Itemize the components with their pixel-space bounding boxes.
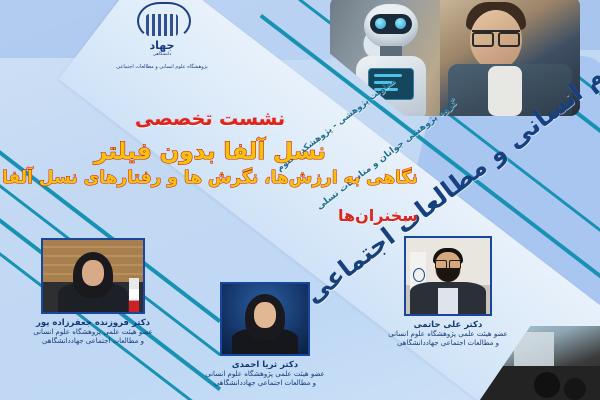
speaker-card: دکتر علی حاتمی عضو هیئت علمی پژوهشگاه عل…: [368, 236, 528, 349]
speaker-photo: [220, 282, 310, 356]
logo-subword: دانشگاهی: [102, 52, 222, 57]
event-subtitle: نگاهی به ارزش‌ها، نگرش ها و رفتارهای نسل…: [0, 168, 420, 188]
speaker-card: دکتر ثریا احمدی عضو هیئت علمی پژوهشگاه ع…: [190, 282, 340, 389]
speaker-role-line2: و مطالعات اجتماعی جهاددانشگاهی: [190, 379, 340, 388]
speaker-role-line2: و مطالعات اجتماعی جهاددانشگاهی: [18, 337, 168, 346]
speakers-heading: سخنران‌ها: [338, 206, 418, 225]
logo-caption: پژوهشگاه علوم انسانی و مطالعات اجتماعی: [102, 64, 222, 70]
speaker-role-line2: و مطالعات اجتماعی جهاددانشگاهی: [368, 339, 528, 348]
event-poster: جهاد دانشگاهی پژوهشگاه علوم انسانی و مطا…: [0, 0, 600, 400]
speaker-name: دکتر علی حاتمی: [368, 320, 528, 330]
speaker-card: دکتر فروزنده جعفرزاده پور عضو هیئت علمی …: [18, 238, 168, 347]
logo-wordmark: جهاد: [102, 40, 222, 51]
event-title: نسل آلفا بدون فیلتر: [0, 139, 420, 165]
jahad-daneshgahi-logo: جهاد دانشگاهی پژوهشگاه علوم انسانی و مطا…: [102, 2, 222, 60]
event-kicker: نشست تخصصی: [0, 108, 420, 130]
speaker-name: دکتر ثریا احمدی: [190, 360, 340, 370]
logo-emblem-icon: [135, 2, 189, 40]
headline-block: نشست تخصصی نسل آلفا بدون فیلتر نگاهی به …: [0, 108, 420, 188]
speaker-photo: [41, 238, 145, 314]
speaker-name: دکتر فروزنده جعفرزاده پور: [18, 318, 168, 328]
speaker-photo: [404, 236, 492, 316]
